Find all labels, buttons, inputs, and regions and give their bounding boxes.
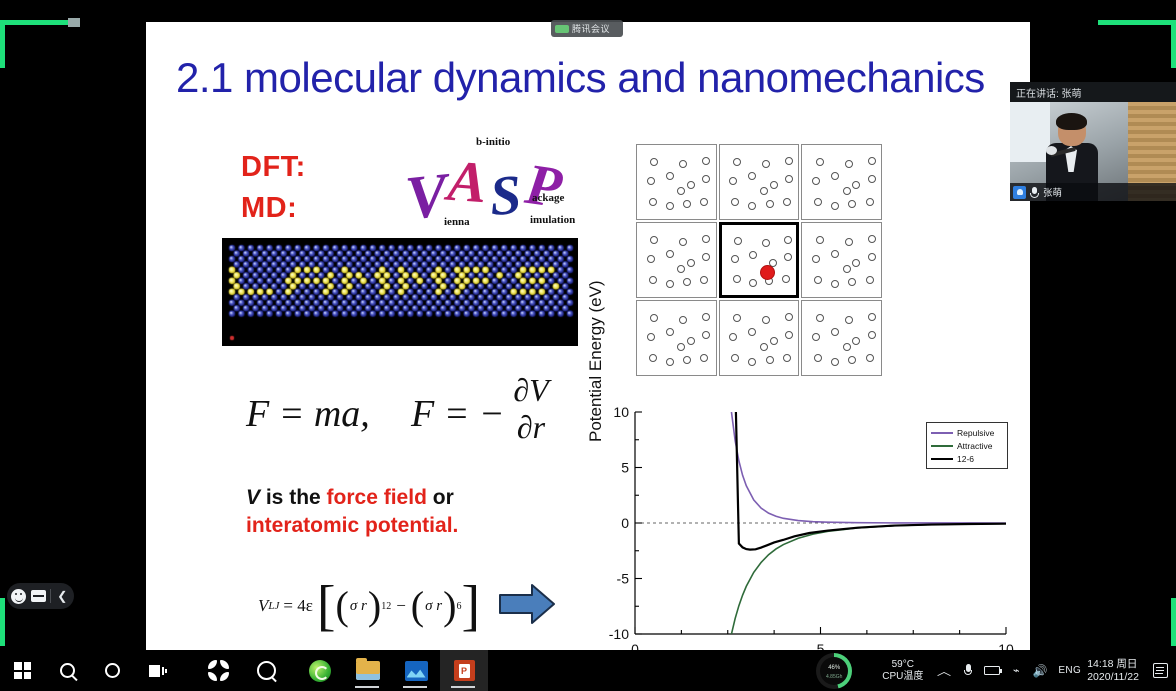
lammps-logo-canvas — [222, 238, 578, 346]
pbc-atom — [812, 177, 820, 185]
pbc-atom — [729, 177, 737, 185]
photos-app[interactable] — [392, 650, 440, 691]
chat-icon — [31, 590, 46, 602]
statement-v: V — [246, 486, 260, 509]
collapse-toolbar-button[interactable]: ❮ — [55, 588, 70, 605]
pbc-atom — [843, 343, 851, 351]
presentation-slide: 2.1 molecular dynamics and nanomechanics… — [146, 22, 1030, 650]
pbc-atom — [784, 236, 792, 244]
pbc-atom — [785, 313, 793, 321]
meeting-logo-icon — [555, 25, 569, 33]
legend-item: Repulsive — [931, 428, 1003, 438]
photos-icon — [405, 661, 428, 681]
pinwheel-app[interactable] — [194, 650, 242, 691]
pbc-atom — [748, 172, 756, 180]
pbc-atom — [784, 253, 792, 261]
pbc-atom — [687, 337, 695, 345]
pbc-atom — [816, 158, 824, 166]
pbc-atom — [666, 250, 674, 258]
pbc-atom — [733, 158, 741, 166]
pbc-atom — [733, 275, 741, 283]
pbc-atom — [666, 328, 674, 336]
vasp-letter-p: P — [522, 150, 566, 221]
share-border-handle — [68, 18, 80, 27]
equation-partial-fraction: ∂V ∂r — [486, 372, 576, 446]
pbc-atom — [702, 235, 710, 243]
everything-search-icon — [257, 661, 276, 680]
pbc-atom — [868, 235, 876, 243]
vasp-letter-a: A — [446, 147, 489, 217]
pbc-atom — [766, 356, 774, 364]
clock-time: 14:18 周日 — [1087, 658, 1139, 671]
microphone-icon — [1030, 187, 1039, 198]
pbc-atom — [760, 187, 768, 195]
lj-fraction-1: σ r — [350, 598, 367, 615]
pbc-atom — [748, 202, 756, 210]
participant-name: 张萌 — [1043, 185, 1062, 199]
video-window-bg — [1010, 102, 1050, 162]
force-field-statement: V is the force field or interatomic pote… — [246, 484, 586, 540]
pbc-image-cell — [801, 300, 882, 376]
running-indicator — [355, 686, 379, 688]
vasp-letter-s: S — [488, 163, 524, 229]
windows-start-icon — [14, 662, 31, 679]
pbc-atom — [650, 314, 658, 322]
pbc-atom — [812, 255, 820, 263]
pbc-center-cell — [719, 222, 800, 298]
toolbar-divider — [50, 589, 51, 603]
pbc-atom — [649, 354, 657, 362]
svg-text:5: 5 — [817, 641, 825, 650]
pbc-atom — [868, 331, 876, 339]
pbc-atom — [731, 255, 739, 263]
volume-icon[interactable]: 🔊 — [1030, 661, 1050, 681]
pbc-atom — [868, 253, 876, 261]
vasp-logo: V A S P b-initio ackage ienna imulation — [404, 134, 584, 244]
battery-gauge-widget[interactable]: 46% 4.85Gh — [816, 653, 852, 689]
svg-text:5: 5 — [621, 460, 629, 476]
pbc-atom — [812, 333, 820, 341]
pbc-atom — [666, 280, 674, 288]
file-explorer-app[interactable] — [344, 650, 392, 691]
notifications-button[interactable] — [1150, 661, 1170, 681]
avatar — [1013, 186, 1026, 199]
chart-legend: RepulsiveAttractive12-6 — [926, 422, 1008, 469]
participant-video-tile[interactable]: 正在讲话: 张萌 张萌 — [1010, 82, 1176, 201]
pbc-atom — [731, 198, 739, 206]
pbc-atom — [749, 279, 757, 287]
cortana-circle-icon — [105, 663, 120, 678]
pbc-atom — [702, 157, 710, 165]
svg-text:10: 10 — [613, 404, 629, 420]
pbc-cell-grid — [636, 144, 882, 376]
folder-icon — [356, 661, 380, 680]
pbc-atom — [647, 255, 655, 263]
meeting-app-pill[interactable]: 腾讯会议 — [551, 20, 623, 37]
legend-swatch — [931, 432, 953, 434]
language-indicator[interactable]: ENG — [1058, 665, 1081, 676]
pbc-atom — [700, 276, 708, 284]
periodic-boundary-diagram — [636, 144, 882, 376]
pbc-atom — [762, 160, 770, 168]
lj-r-2: r — [436, 598, 442, 614]
potential-energy-chart: Potential Energy (eV) -10-505100510 Repu… — [588, 394, 1018, 650]
pbc-tagged-atom — [760, 265, 775, 280]
fraction-numerator: ∂V — [507, 372, 554, 408]
pbc-atom — [866, 198, 874, 206]
pbc-atom — [748, 328, 756, 336]
system-tray: 46% 4.85Gh 59°C CPU温度 ︿ ⌁ 🔊 ENG 14:18 周日… — [816, 650, 1176, 691]
cpu-temperature-widget[interactable]: 59°C CPU温度 — [882, 659, 923, 683]
newton-equation: F = ma, F = − ∂V ∂r — [246, 370, 576, 460]
pbc-atom — [762, 239, 770, 247]
wifi-icon[interactable]: ⌁ — [1006, 661, 1026, 681]
powerpoint-icon — [454, 660, 475, 681]
share-border-left-bottom — [0, 598, 5, 646]
dft-label: DFT: — [241, 147, 306, 188]
share-border-top-left — [0, 20, 78, 25]
chevron-left-icon: ❮ — [57, 590, 67, 602]
pbc-atom — [729, 333, 737, 341]
statement-force-field: force field — [327, 486, 427, 509]
pbc-atom — [687, 181, 695, 189]
cpu-temp-value: 59°C — [882, 659, 923, 671]
pbc-atom — [683, 278, 691, 286]
pbc-atom — [814, 198, 822, 206]
pbc-atom — [700, 354, 708, 362]
pbc-atom — [868, 157, 876, 165]
method-labels: DFT: MD: — [241, 147, 306, 229]
pbc-atom — [683, 200, 691, 208]
pbc-atom — [677, 265, 685, 273]
pbc-atom — [760, 343, 768, 351]
running-indicator — [451, 686, 475, 688]
lj-sigma-2: σ — [425, 598, 432, 614]
start-button[interactable] — [0, 650, 45, 691]
fraction-denominator: ∂r — [511, 409, 551, 445]
clock-date: 2020/11/22 — [1087, 671, 1139, 684]
share-border-top-right — [1098, 20, 1176, 25]
cortana-button[interactable] — [90, 650, 135, 691]
pbc-atom — [848, 200, 856, 208]
pbc-atom — [702, 313, 710, 321]
vasp-sub-package: ackage — [532, 192, 564, 204]
pbc-image-cell — [636, 300, 717, 376]
pbc-atom — [749, 251, 757, 259]
battery-sub-label: 4.85Gh — [826, 674, 842, 680]
pbc-atom — [748, 358, 756, 366]
task-view-icon — [149, 664, 167, 678]
legend-item: 12-6 — [931, 454, 1003, 464]
pbc-atom — [666, 358, 674, 366]
svg-text:0: 0 — [631, 641, 639, 650]
pbc-atom — [647, 177, 655, 185]
pbc-atom — [679, 238, 687, 246]
statement-period: . — [453, 514, 459, 537]
statement-mid2: or — [427, 486, 454, 509]
svg-text:-10: -10 — [609, 626, 629, 642]
emoji-button[interactable] — [11, 588, 26, 605]
pbc-atom — [666, 172, 674, 180]
microphone-icon — [964, 664, 972, 677]
gauge-text: 46% 4.85Gh — [816, 653, 852, 689]
pbc-atom — [785, 157, 793, 165]
legend-label: Attractive — [957, 441, 992, 451]
svg-text:0: 0 — [621, 515, 629, 531]
pbc-image-cell — [801, 144, 882, 220]
notification-icon — [1153, 663, 1168, 678]
legend-label: 12-6 — [957, 454, 974, 464]
lj-exponent-12: 12 — [381, 601, 391, 612]
pbc-atom — [866, 354, 874, 362]
pbc-atom — [770, 337, 778, 345]
pbc-atom — [783, 354, 791, 362]
running-indicator — [403, 686, 427, 688]
pbc-atom — [845, 316, 853, 324]
pbc-atom — [843, 187, 851, 195]
lj-r-1: r — [361, 598, 367, 614]
speaker-hair — [1056, 113, 1087, 130]
pbc-atom — [666, 202, 674, 210]
pbc-atom — [677, 187, 685, 195]
podium-microphone-head — [1046, 146, 1057, 155]
task-view-button[interactable] — [135, 650, 180, 691]
lj-fraction-2: σ r — [425, 598, 442, 615]
pbc-atom — [848, 356, 856, 364]
microphone-button[interactable] — [958, 661, 978, 681]
search-button[interactable] — [45, 650, 90, 691]
pbc-atom — [814, 354, 822, 362]
battery-icon — [984, 666, 1000, 675]
legend-label: Repulsive — [957, 428, 994, 438]
browser-app[interactable] — [296, 650, 344, 691]
pbc-atom — [816, 314, 824, 322]
pbc-atom — [852, 337, 860, 345]
share-border-right-bottom — [1171, 598, 1176, 646]
lj-v: V — [258, 596, 268, 616]
pbc-atom — [770, 181, 778, 189]
pinwheel-icon — [208, 660, 229, 681]
pbc-image-cell — [636, 222, 717, 298]
pbc-atom — [785, 331, 793, 339]
lj-subscript: LJ — [268, 600, 279, 612]
pbc-atom — [831, 358, 839, 366]
legend-item: Attractive — [931, 441, 1003, 451]
svg-text:10: 10 — [998, 641, 1014, 650]
pbc-atom — [734, 237, 742, 245]
pbc-atom — [766, 200, 774, 208]
pbc-image-cell — [636, 144, 717, 220]
windows-taskbar: 46% 4.85Gh 59°C CPU温度 ︿ ⌁ 🔊 ENG 14:18 周日… — [0, 650, 1176, 691]
pbc-image-cell — [801, 222, 882, 298]
pbc-atom — [848, 278, 856, 286]
pbc-atom — [702, 175, 710, 183]
pbc-atom — [679, 160, 687, 168]
pbc-atom — [783, 198, 791, 206]
pbc-atom — [845, 160, 853, 168]
pbc-atom — [687, 259, 695, 267]
pbc-atom — [831, 172, 839, 180]
page-title: 2.1 molecular dynamics and nanomechanics — [176, 54, 1016, 102]
pbc-atom — [649, 198, 657, 206]
svg-text:-5: -5 — [617, 571, 630, 587]
pbc-atom — [679, 316, 687, 324]
blue-arrow-icon — [498, 582, 556, 626]
meeting-app-label: 腾讯会议 — [572, 22, 610, 35]
pbc-atom — [831, 280, 839, 288]
powerpoint-app[interactable] — [440, 650, 488, 691]
search-icon — [60, 663, 75, 678]
pbc-atom — [733, 314, 741, 322]
pbc-atom — [647, 333, 655, 341]
pbc-image-cell — [719, 144, 800, 220]
chat-button[interactable] — [30, 588, 45, 605]
vasp-sub-abinitio: b-initio — [476, 136, 510, 148]
vasp-sub-vienna: ienna — [444, 216, 470, 228]
pbc-atom — [831, 328, 839, 336]
chevron-up-icon[interactable]: ︿ — [931, 661, 957, 681]
share-border-left-top — [0, 20, 5, 68]
pbc-atom — [677, 343, 685, 351]
video-feed: 张萌 — [1010, 102, 1176, 201]
pbc-atom — [816, 236, 824, 244]
pbc-atom — [852, 259, 860, 267]
lammps-logo — [222, 238, 578, 346]
md-label: MD: — [241, 188, 306, 229]
everything-search-app[interactable] — [242, 650, 290, 691]
battery-percent: 46% — [828, 661, 840, 674]
pbc-atom — [831, 202, 839, 210]
pbc-atom — [649, 276, 657, 284]
pbc-atom — [731, 354, 739, 362]
browser-icon — [309, 660, 331, 682]
emoji-icon — [11, 589, 26, 604]
share-border-right-top — [1171, 20, 1176, 68]
vasp-sub-simulation: imulation — [530, 214, 575, 226]
pbc-atom — [702, 253, 710, 261]
pbc-atom — [683, 356, 691, 364]
pbc-atom — [866, 276, 874, 284]
pbc-atom — [868, 175, 876, 183]
pbc-atom — [702, 331, 710, 339]
taskbar-left-group — [0, 650, 488, 691]
pbc-atom — [762, 316, 770, 324]
video-name-bar: 张萌 — [1010, 183, 1176, 201]
speaking-indicator: 正在讲话: 张萌 — [1010, 82, 1176, 102]
legend-swatch — [931, 445, 953, 447]
pbc-atom — [814, 276, 822, 284]
pbc-atom — [650, 236, 658, 244]
statement-interatomic-potential: interatomic potential — [246, 514, 453, 537]
pbc-atom — [831, 250, 839, 258]
pbc-atom — [650, 158, 658, 166]
legend-swatch — [931, 458, 953, 460]
pbc-image-cell — [719, 300, 800, 376]
pbc-atom — [785, 175, 793, 183]
pbc-atom — [700, 198, 708, 206]
battery-status-button[interactable] — [982, 661, 1002, 681]
pbc-atom — [782, 275, 790, 283]
pbc-atom — [843, 265, 851, 273]
pbc-atom — [845, 238, 853, 246]
pbc-atom — [868, 313, 876, 321]
pbc-atom — [852, 181, 860, 189]
equation-f-equals-ma: F = ma, — [246, 392, 370, 436]
meeting-floating-toolbar[interactable]: ❮ — [7, 583, 74, 609]
lj-equals: = 4ε — [283, 596, 312, 616]
lj-minus: − — [396, 596, 406, 616]
statement-mid: is the — [260, 486, 327, 509]
cpu-temp-label: CPU温度 — [882, 671, 923, 683]
lj-sigma-1: σ — [350, 598, 357, 614]
clock[interactable]: 14:18 周日 2020/11/22 — [1087, 658, 1139, 684]
